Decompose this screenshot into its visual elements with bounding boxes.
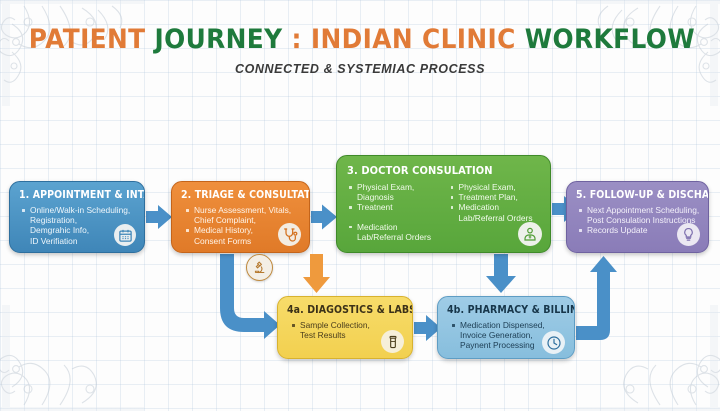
list-item: Medication Lab/Referral Orders <box>349 222 441 242</box>
box3-columns: Physical Exam, Diagnosis Treatnent Medic… <box>349 182 542 242</box>
list-item: Nurse Assessment, Vitals, Chief Complain… <box>186 205 298 225</box>
box2-heading: 2. TRIAGE & CONSULTATION PREP <box>181 189 310 201</box>
box3-right-list: Physical Exam, Treatment Plan, Medicatio… <box>451 182 543 223</box>
box5-heading: 5. FOLLOW-UP & DISCHARGE <box>576 189 709 201</box>
connector-box4b-to-box5 <box>576 256 617 340</box>
step-box-appointment-intake[interactable]: 1. APPOINTMENT & INTAKE Online/Walk-in S… <box>9 181 145 253</box>
lightbulb-icon <box>677 223 700 246</box>
calendar-icon <box>114 224 136 246</box>
connector-box3-to-box4a <box>303 254 330 293</box>
microscope-icon <box>246 254 273 281</box>
box1-heading: 1. APPOINTMENT & INTAKE <box>19 189 145 201</box>
list-item: Treatment Plan, <box>451 192 543 202</box>
box3-left-list-extra: Medication Lab/Referral Orders <box>349 222 441 242</box>
list-item: Physical Exam, Diagnosis <box>349 182 441 202</box>
box3-heading: 3. DOCTOR CONSULATION <box>347 164 493 177</box>
step-box-pharmacy-billing[interactable]: 4b. PHARMACY & BILLING Medication Dispen… <box>437 296 575 359</box>
box4a-heading: 4a. DIAGOSTICS & LABS <box>287 304 413 316</box>
connector-box3-to-box4b <box>486 254 516 293</box>
column-spacer <box>349 213 441 222</box>
box4b-heading: 4b. PHARMACY & BILLING <box>447 304 575 316</box>
step-box-diagnostics-labs[interactable]: 4a. DIAGOSTICS & LABS Sample Collection,… <box>277 296 413 359</box>
list-item: Physical Exam, <box>451 182 543 192</box>
specimen-jar-icon <box>381 330 404 353</box>
doctor-icon <box>518 222 542 246</box>
connector-box1-to-box2 <box>146 205 172 229</box>
step-box-follow-up-discharge[interactable]: 5. FOLLOW-UP & DISCHARGE Next Appointmen… <box>566 181 709 253</box>
list-item: Medication Lab/Referral Orders <box>451 202 543 222</box>
diagram-canvas: PATIENT JOURNEY : INDIAN CLINIC WORKFLOW… <box>0 0 720 411</box>
list-item: Treatnent <box>349 202 441 212</box>
connector-box2-to-box3 <box>311 205 337 230</box>
step-box-triage-consultation-prep[interactable]: 2. TRIAGE & CONSULTATION PREP Nurse Asse… <box>171 181 310 253</box>
box3-left-column: Physical Exam, Diagnosis Treatnent Medic… <box>349 182 441 242</box>
box3-left-list: Physical Exam, Diagnosis Treatnent <box>349 182 441 213</box>
step-box-doctor-consultation[interactable]: 3. DOCTOR CONSULATION Physical Exam, Dia… <box>336 155 551 253</box>
clock-icon <box>542 331 565 354</box>
stethoscope-icon <box>278 223 301 246</box>
